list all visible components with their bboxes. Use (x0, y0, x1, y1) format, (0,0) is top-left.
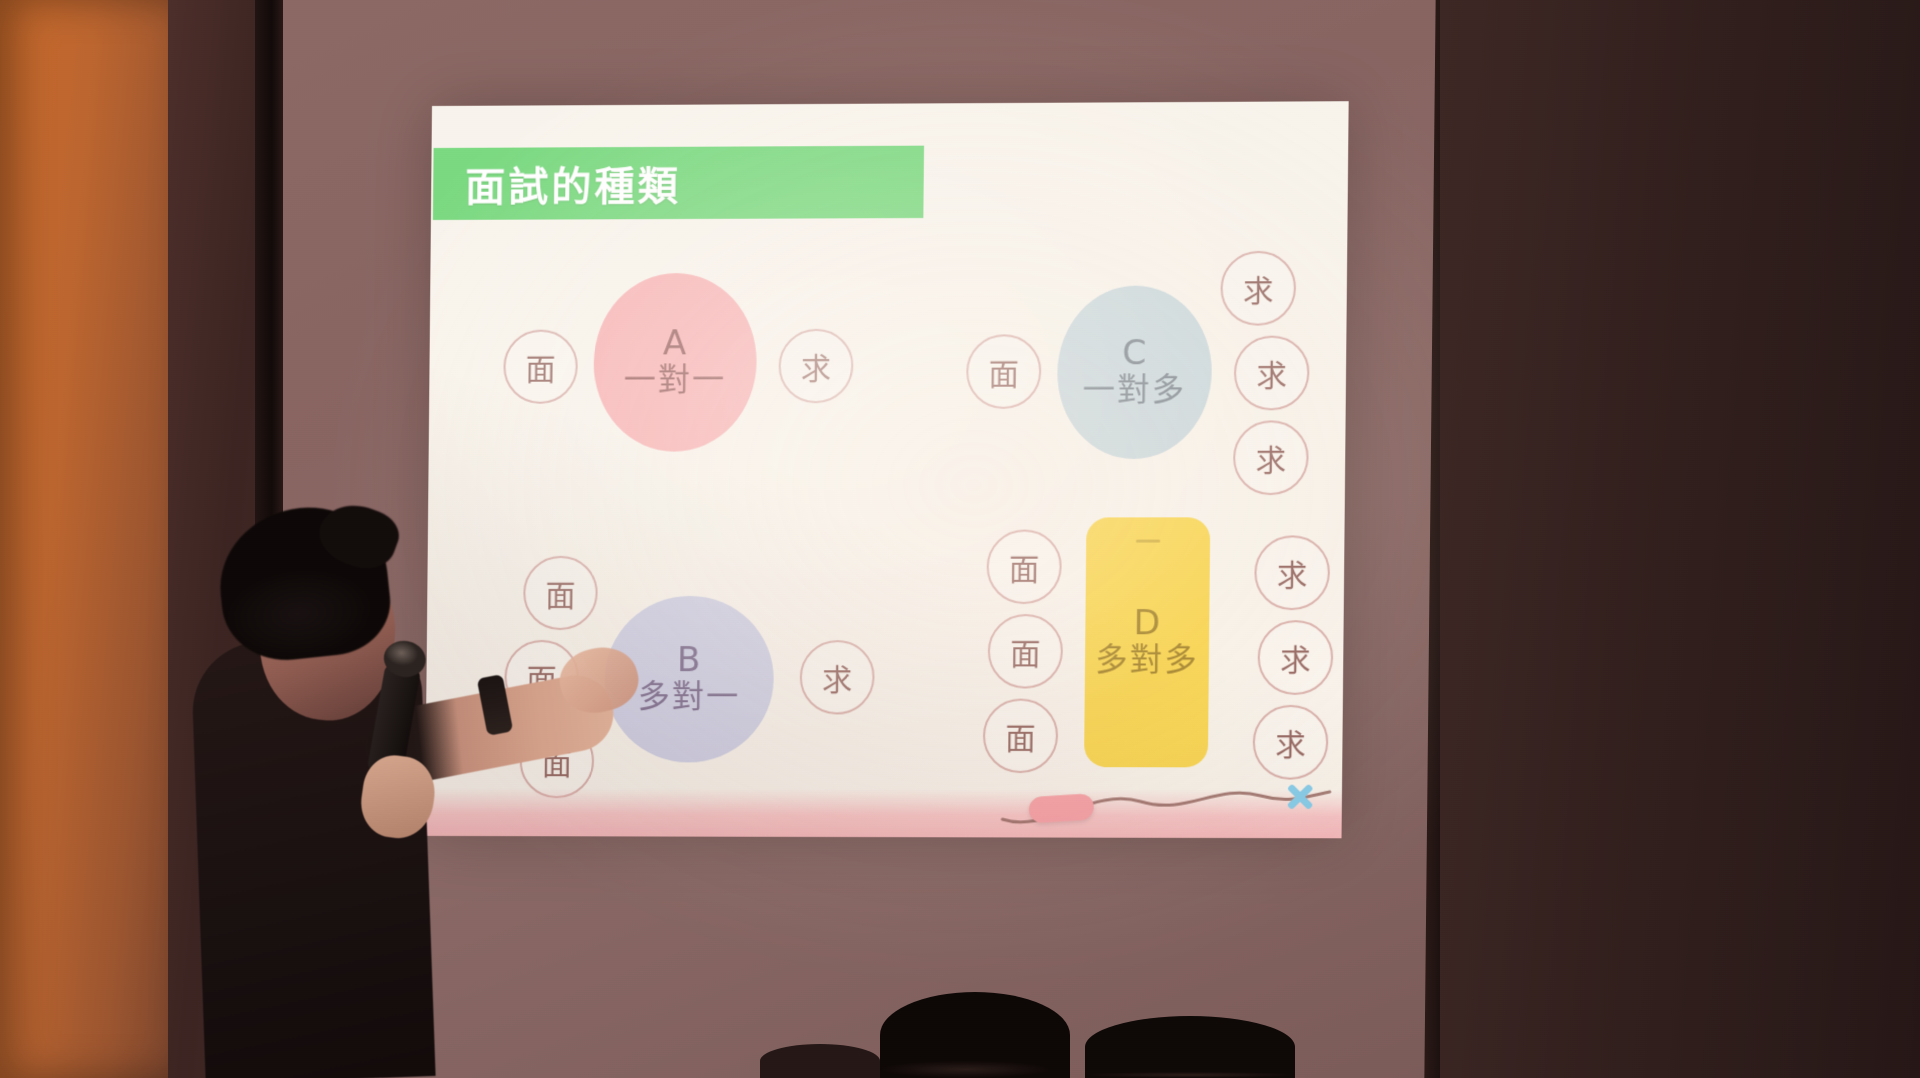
group-d-letter: D (1133, 606, 1161, 642)
group-c-letter: C (1122, 336, 1147, 372)
group-c-candidate-node-2: 求 (1234, 336, 1310, 411)
group-b-candidate-node-1: 求 (800, 640, 875, 714)
group-d-subtitle: 多對多 (1095, 642, 1199, 679)
pink-pill-decoration-icon (1028, 793, 1094, 823)
group-c-candidate-node-1: 求 (1220, 251, 1296, 326)
audience-head-2 (1085, 1016, 1295, 1078)
group-d-notch-icon (1136, 540, 1160, 543)
group-c: 面 C 一對多 求 求 求 (949, 243, 1347, 496)
blue-x-decoration-icon (1285, 782, 1316, 812)
group-b-letter: B (677, 643, 702, 679)
group-c-main-circle: C 一對多 (1057, 285, 1213, 459)
group-d-candidate-node-1: 求 (1254, 535, 1330, 610)
group-d-main-shape: D 多對多 (1084, 517, 1210, 767)
group-a-subtitle: 一對一 (624, 362, 727, 399)
group-d: 面 面 面 D 多對多 求 求 (956, 517, 1348, 790)
group-d-interviewer-node-2: 面 (988, 614, 1064, 689)
group-a-candidate-node-1: 求 (778, 329, 853, 403)
group-d-interviewer-node-1: 面 (986, 530, 1062, 604)
group-a-letter: A (663, 326, 688, 362)
group-d-candidate-node-2: 求 (1257, 620, 1333, 695)
presenter-figure (190, 480, 660, 1078)
group-c-interviewer-node-1: 面 (966, 334, 1042, 409)
right-wall-shadow (1440, 0, 1920, 1078)
group-a-interviewer-node-1: 面 (503, 330, 578, 404)
audience-head-1 (880, 992, 1070, 1078)
group-a-main-circle: A 一對一 (593, 273, 758, 452)
wall-left-orange-panel (0, 0, 178, 1078)
presenter-hair (213, 500, 396, 667)
group-c-candidate-node-3: 求 (1233, 420, 1309, 495)
projected-presentation-scene: 面試的種類 面 A 一對一 求 面 (0, 0, 1920, 1078)
group-a: 面 A 一對一 求 (488, 254, 892, 476)
group-c-subtitle: 一對多 (1082, 372, 1186, 409)
audience-head-3 (760, 1044, 880, 1078)
